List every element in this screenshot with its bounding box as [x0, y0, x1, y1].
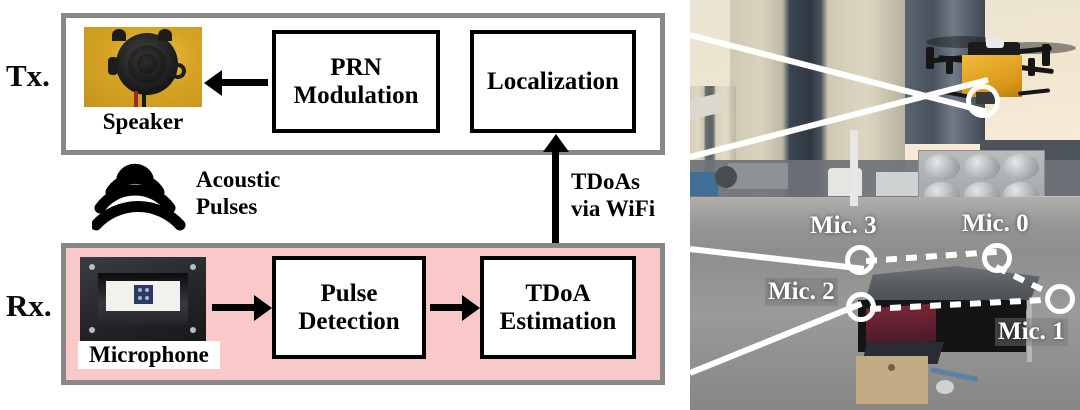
tdoa-estimation-block[interactable]: TDoA Estimation: [480, 256, 636, 359]
rotor-motor: [1028, 58, 1035, 76]
pulse-detection-block[interactable]: Pulse Detection: [272, 256, 426, 359]
mic3-label: Mic. 3: [810, 212, 877, 240]
pulse-line1: Pulse: [321, 280, 378, 307]
mic0-marker[interactable]: [982, 243, 1012, 273]
arrow-tdoa-to-localization: [552, 152, 559, 256]
hvac-duct: [690, 172, 718, 196]
mic2-marker[interactable]: [846, 292, 876, 322]
rx-side-label: Rx.: [6, 290, 52, 321]
prn-modulation-block[interactable]: PRN Modulation: [272, 30, 440, 133]
prn-line2: Modulation: [293, 82, 418, 109]
acoustic-pulses-label: Acoustic Pulses: [196, 166, 280, 220]
cable-plug: [936, 380, 954, 394]
box-handle: [888, 364, 895, 371]
mic1-label: Mic. 1: [995, 318, 1068, 346]
tank-panel: [1003, 154, 1039, 180]
rooftop-experiment-photo: Mic. 3 Mic. 0 Mic. 2 Mic. 1: [690, 0, 1080, 410]
tx-side-label: Tx.: [6, 60, 50, 91]
tdoas-via-wifi-label: TDoAs via WiFi: [571, 168, 655, 222]
pulse-detection-label: Pulse Detection: [298, 280, 399, 336]
localization-label: Localization: [487, 68, 619, 96]
fan-unit: [715, 166, 737, 188]
mic1-marker[interactable]: [1045, 284, 1075, 314]
tank-panel: [964, 154, 1000, 180]
hvac-unit: [728, 163, 788, 189]
rotor-motor: [946, 56, 953, 74]
mic0-label: Mic. 0: [962, 210, 1029, 238]
rotor-motor: [1042, 44, 1050, 66]
tdoas-line1: TDoAs: [571, 168, 655, 195]
arrow-mic-to-pulse-detection: [212, 304, 254, 311]
acoustic-line1: Acoustic: [196, 166, 280, 193]
rotor-motor: [926, 47, 934, 69]
tank-panel: [924, 154, 960, 180]
tdoa-line1: TDoA: [525, 280, 590, 307]
system-block-diagram: Tx. Speaker PRN Modul: [0, 0, 680, 410]
prn-modulation-label: PRN Modulation: [293, 54, 418, 110]
speaker-photo: [84, 27, 202, 107]
drone-speaker-marker[interactable]: [966, 84, 1000, 118]
tdoas-line2: via WiFi: [571, 195, 655, 222]
drone-gps-module: [986, 36, 1004, 48]
acoustic-wave-icon: [92, 162, 186, 234]
light-pole: [850, 130, 858, 206]
mic3-marker[interactable]: [845, 245, 875, 275]
pulse-line2: Detection: [298, 308, 399, 335]
microphone-caption: Microphone: [78, 341, 220, 369]
mic2-label: Mic. 2: [765, 278, 838, 306]
arrow-prn-to-speaker: [222, 79, 268, 86]
figure-root: Tx. Speaker PRN Modul: [0, 0, 1080, 410]
prn-line1: PRN: [330, 54, 381, 81]
speaker-caption: Speaker: [78, 110, 208, 134]
arrow-pulse-to-tdoa: [430, 304, 462, 311]
acoustic-line2: Pulses: [196, 193, 280, 220]
tdoa-line2: Estimation: [500, 308, 617, 335]
localization-block[interactable]: Localization: [470, 30, 636, 133]
microphone-photo: [80, 257, 206, 345]
tdoa-estimation-label: TDoA Estimation: [500, 280, 617, 336]
